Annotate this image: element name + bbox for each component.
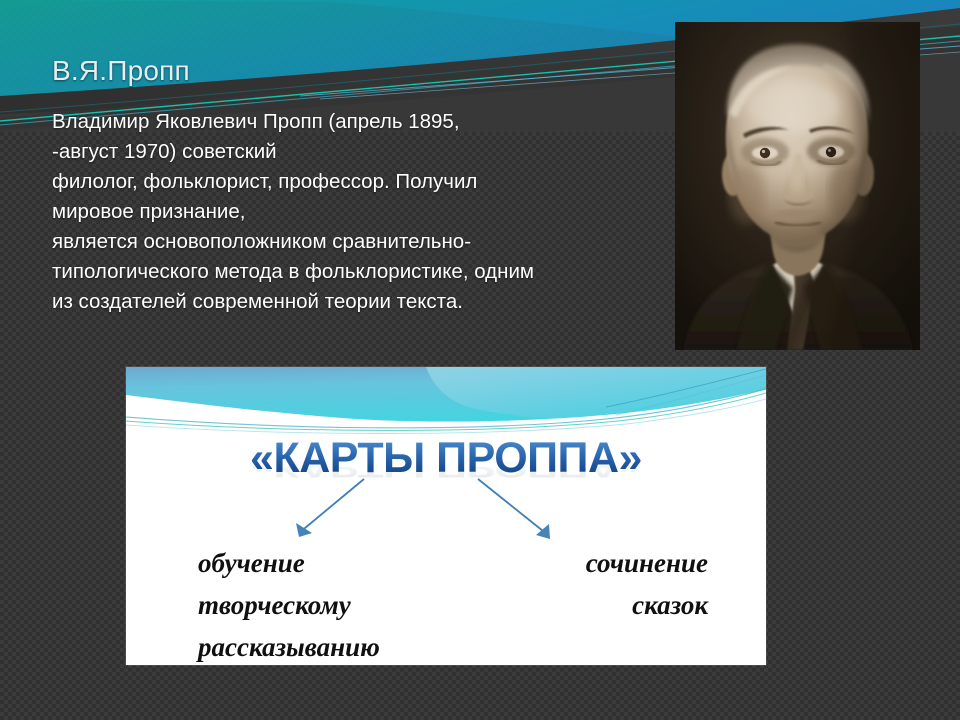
portrait-photo: Чёрно-белый портретный фотоснимок пожило…: [675, 22, 920, 350]
biography-line: филолог, фольклорист, профессор. Получил: [52, 167, 652, 197]
biography-line: Владимир Яковлевич Пропп (апрель 1895,: [52, 107, 652, 137]
slide-root: В.Я.Пропп Владимир Яковлевич Пропп (апре…: [0, 0, 960, 720]
biography-line: из создателей современной теории текста.: [52, 287, 652, 317]
term-left-line: обучение: [198, 542, 380, 584]
term-right-line: сочинение: [586, 542, 708, 584]
karty-proppa-panel: «КАРТЫ ПРОППА» «КАРТЫ ПРОППА» обучение т…: [126, 367, 766, 665]
biography-line: типологического метода в фольклористике,…: [52, 257, 652, 287]
term-right: сочинение сказок: [586, 542, 708, 626]
term-left-line: творческому: [198, 584, 380, 626]
panel-wave-header: [126, 367, 766, 437]
arrow-right-shaft: [478, 479, 548, 535]
arrow-left-shaft: [299, 479, 364, 533]
term-left: обучение творческому рассказыванию: [198, 542, 380, 665]
biography-line: -август 1970) советский: [52, 137, 652, 167]
term-right-line: сказок: [586, 584, 708, 626]
term-left-line: рассказыванию: [198, 626, 380, 665]
biography-paragraph: Владимир Яковлевич Пропп (апрель 1895, -…: [52, 107, 652, 317]
biography-line: мировое признание,: [52, 197, 652, 227]
biography-line: является основоположником сравнительно-: [52, 227, 652, 257]
page-title: В.Я.Пропп: [52, 56, 190, 87]
